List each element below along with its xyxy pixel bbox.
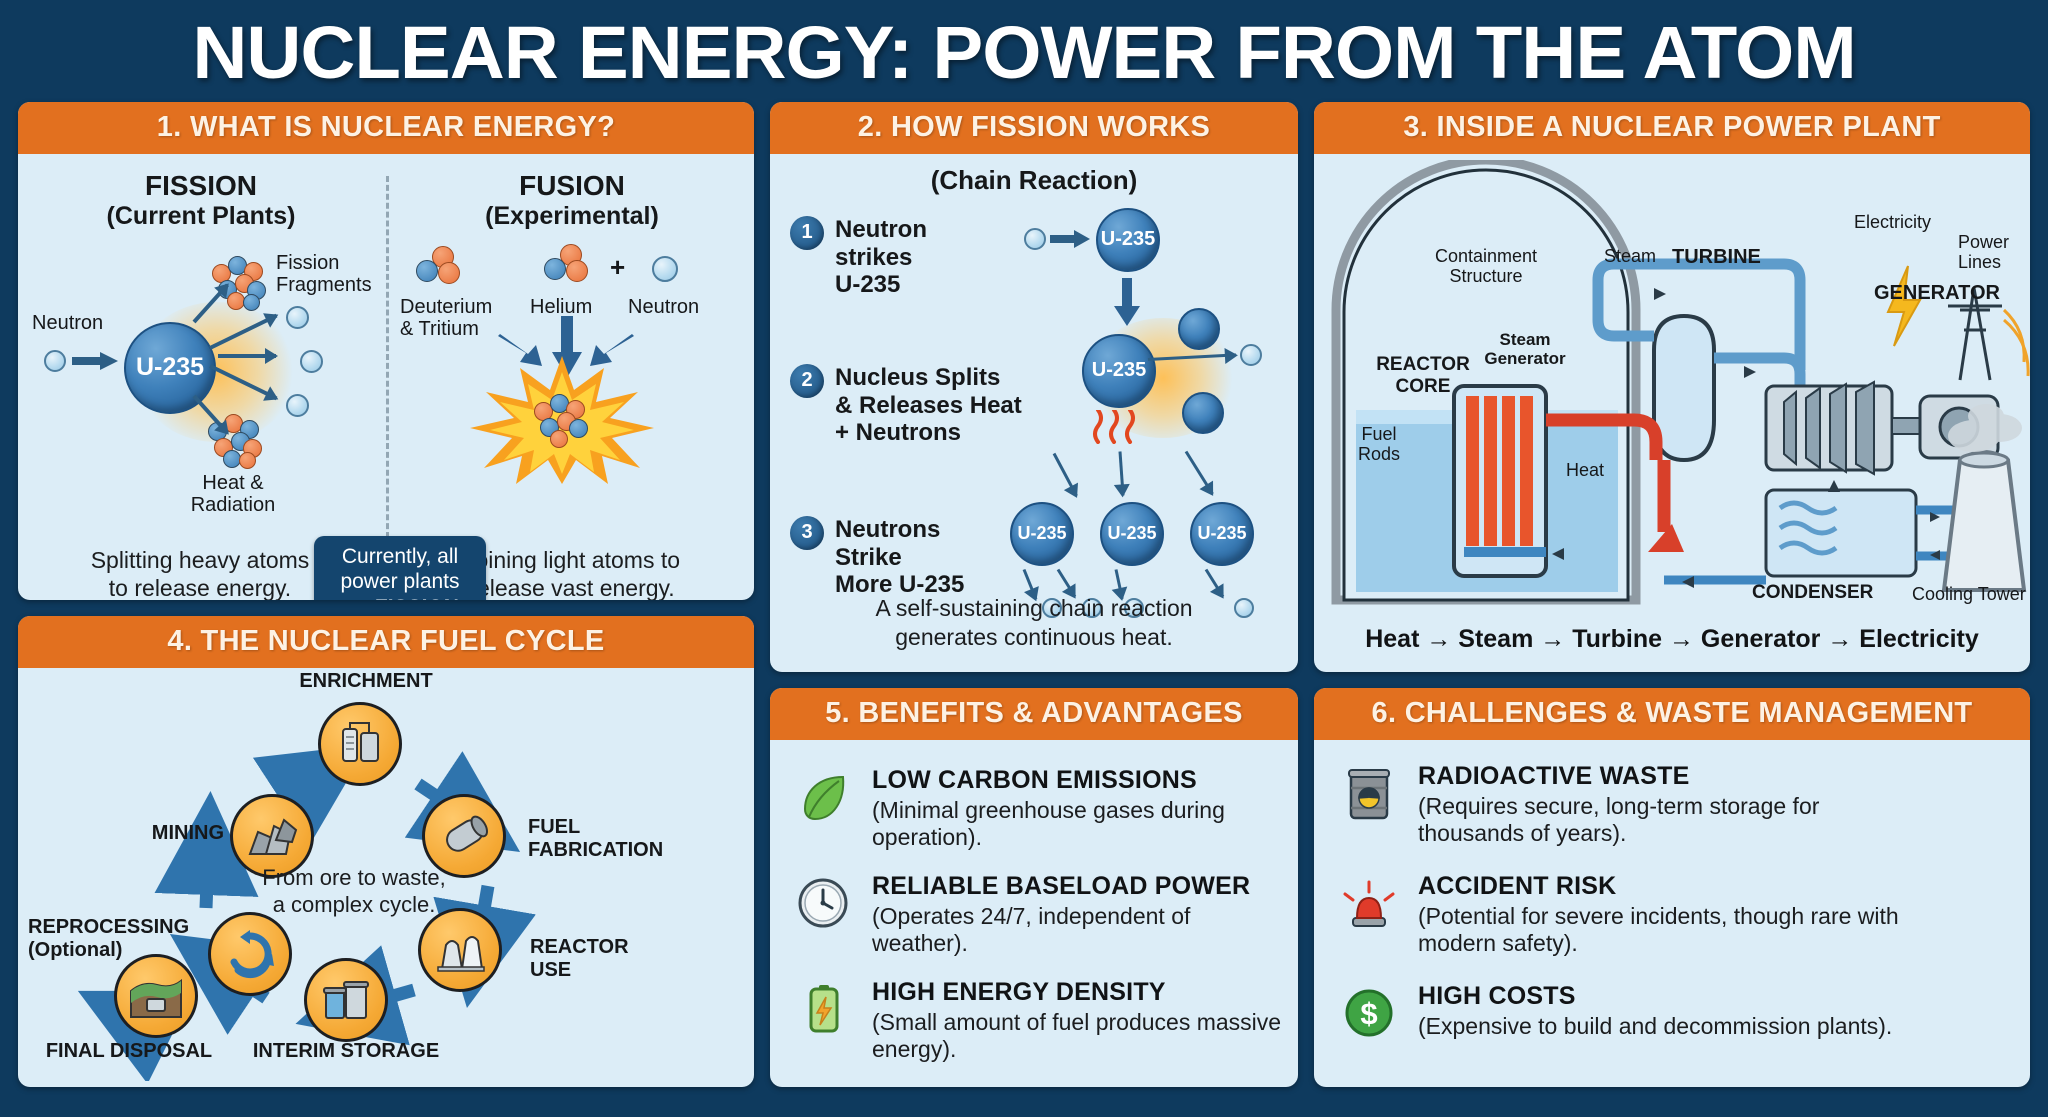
- chain-down-arrow-1: [1114, 278, 1140, 326]
- panel3-header: 3. INSIDE A NUCLEAR POWER PLANT: [1314, 102, 2030, 154]
- fission-title: FISSION: [18, 170, 384, 202]
- stage-label-fuel-fabrication: FUEL FABRICATION: [528, 816, 678, 862]
- cooling-tower-label: Cooling Tower: [1912, 584, 2026, 605]
- chain-u235-row-1: U-235: [1010, 502, 1074, 566]
- step-3-text: Neutrons Strike More U-235: [835, 516, 964, 599]
- challenge-item-2: ACCIDENT RISK (Potential for severe inci…: [1338, 872, 2010, 958]
- chain-tail-arrow-2: [1057, 568, 1077, 597]
- chain-reaction-subtitle: (Chain Reaction): [770, 166, 1298, 196]
- chain-arrow-a: [1053, 452, 1078, 496]
- callout-fission: FISSION: [375, 596, 459, 600]
- callout-use: use: [335, 596, 375, 600]
- power-plant-diagram: Containment Structure REACTOR CORE Fuel …: [1314, 154, 2030, 666]
- recycle-icon: [208, 912, 292, 996]
- released-neutron-large-2: [1182, 392, 1224, 434]
- panel1-divider: [386, 176, 389, 538]
- helium-icon: [542, 244, 598, 294]
- benefit-item-3: HIGH ENERGY DENSITY (Small amount of fue…: [792, 978, 1282, 1064]
- benefit-2-title: RELIABLE BASELOAD POWER: [872, 872, 1282, 901]
- turbine-label: TURBINE: [1672, 246, 1761, 269]
- chain-u235-top: U-235: [1096, 208, 1160, 272]
- panel-grid: 1. WHAT IS NUCLEAR ENERGY? FISSION (Curr…: [18, 102, 2030, 1087]
- stage-label-mining: MINING: [114, 822, 224, 845]
- fusion-title: FUSION: [392, 170, 752, 202]
- emitted-neutron-2: [300, 350, 323, 373]
- panel-inside-power-plant: 3. INSIDE A NUCLEAR POWER PLANT: [1314, 102, 2030, 672]
- fission-callout-badge: Currently, all power plants use FISSION.: [314, 536, 486, 600]
- fusion-subtitle: (Experimental): [392, 202, 752, 231]
- svg-text:$: $: [1360, 996, 1377, 1031]
- deuterium-tritium-icon: [414, 246, 470, 296]
- challenge-3-desc: (Expensive to build and decommission pla…: [1418, 1013, 1892, 1041]
- chain-u235-row-2: U-235: [1100, 502, 1164, 566]
- benefit-3-title: HIGH ENERGY DENSITY: [872, 978, 1282, 1007]
- neutron-arrow-icon: [72, 352, 118, 370]
- u235-nucleus: U-235: [124, 322, 216, 414]
- step-1-text: Neutron strikes U-235: [835, 216, 927, 299]
- leaf-icon: [792, 766, 854, 828]
- fusion-diagram: Deuterium & Tritium + Helium Neutron: [400, 244, 752, 484]
- clock-icon: [792, 872, 854, 934]
- fission-step-3: 3 Neutrons Strike More U-235: [790, 516, 1010, 599]
- chain-tail-arrow-4: [1205, 568, 1225, 597]
- step-3-number: 3: [790, 516, 824, 550]
- released-neutron-large-1: [1178, 308, 1220, 350]
- chain-arrow-b: [1119, 451, 1125, 495]
- step-1-number: 1: [790, 216, 824, 250]
- chain-incoming-neutron: [1024, 228, 1046, 250]
- centrifuge-icon: [318, 702, 402, 786]
- benefit-1-desc: (Minimal greenhouse gases during operati…: [872, 797, 1282, 852]
- challenge-1-title: RADIOACTIVE WASTE: [1418, 762, 1819, 791]
- stage-label-reactor-use: REACTOR USE: [530, 936, 670, 982]
- callout-line-1: Currently, all: [326, 544, 474, 570]
- challenge-item-3: $ HIGH COSTS (Expensive to build and dec…: [1338, 982, 2010, 1044]
- callout-line-2: power plants: [326, 569, 474, 595]
- panel-what-is-nuclear-energy: 1. WHAT IS NUCLEAR ENERGY? FISSION (Curr…: [18, 102, 754, 600]
- fusion-neutron-icon: [652, 256, 678, 282]
- chain-reaction-caption: A self-sustaining chain reaction generat…: [784, 594, 1284, 652]
- steam-label: Steam: [1604, 246, 1656, 267]
- fission-diagram: Neutron U-235: [28, 254, 384, 474]
- benefit-item-2: RELIABLE BASELOAD POWER (Operates 24/7, …: [792, 872, 1282, 958]
- heat-radiation-label: Heat & Radiation: [168, 472, 298, 517]
- chain-arrow-c: [1185, 450, 1214, 494]
- step-2-text: Nucleus Splits & Releases Heat + Neutron…: [835, 364, 1022, 447]
- deuterium-tritium-label: Deuterium & Tritium: [400, 296, 512, 341]
- emit-arrow-mid: [218, 354, 276, 358]
- fusion-neutron-label: Neutron: [628, 296, 699, 319]
- radioactive-barrel-icon: [1338, 762, 1400, 824]
- callout-line-3: use FISSION.: [326, 595, 474, 600]
- power-lines-label: Power Lines: [1958, 232, 2026, 273]
- incoming-neutron-icon: [44, 350, 66, 372]
- panel-fuel-cycle: 4. THE NUCLEAR FUEL CYCLE: [18, 616, 754, 1087]
- stage-label-enrichment: ENRICHMENT: [266, 670, 466, 693]
- benefit-item-1: LOW CARBON EMISSIONS (Minimal greenhouse…: [792, 766, 1282, 852]
- released-neutron-small: [1240, 344, 1262, 366]
- panel-benefits: 5. BENEFITS & ADVANTAGES LOW CARBON EMIS…: [770, 688, 1298, 1087]
- containment-structure-label: Containment Structure: [1426, 246, 1546, 287]
- generator-label: GENERATOR: [1874, 282, 2000, 305]
- challenge-2-title: ACCIDENT RISK: [1418, 872, 1899, 901]
- benefit-2-desc: (Operates 24/7, independent of weather).: [872, 903, 1282, 958]
- emitted-neutron-1: [286, 306, 309, 329]
- panel6-header: 6. CHALLENGES & WASTE MANAGEMENT: [1314, 688, 2030, 740]
- fusion-product-nucleus: [532, 392, 592, 450]
- heat-label: Heat: [1566, 460, 1604, 481]
- panel-how-fission-works: 2. HOW FISSION WORKS (Chain Reaction) 1 …: [770, 102, 1298, 672]
- condenser-label: CONDENSER: [1752, 582, 1873, 604]
- stage-label-reprocessing: REPROCESSING (Optional): [28, 916, 200, 962]
- panel-challenges: 6. CHALLENGES & WASTE MANAGEMENT: [1314, 688, 2030, 1087]
- panel1-header: 1. WHAT IS NUCLEAR ENERGY?: [18, 102, 754, 154]
- panel4-header: 4. THE NUCLEAR FUEL CYCLE: [18, 616, 754, 668]
- reactor-core-label: REACTOR CORE: [1376, 354, 1470, 398]
- burial-icon: [114, 954, 198, 1038]
- callout-period: .: [459, 596, 465, 600]
- stage-label-interim-storage: INTERIM STORAGE: [236, 1040, 456, 1063]
- alarm-light-icon: [1338, 872, 1400, 934]
- energy-flow-statement: Heat → Steam → Turbine → Generator → Ele…: [1314, 625, 2030, 654]
- challenge-2-desc: (Potential for severe incidents, though …: [1418, 903, 1899, 958]
- challenge-1-desc: (Requires secure, long-term storage for …: [1418, 793, 1819, 848]
- fuel-cycle-center-text: From ore to waste, a complex cycle.: [234, 864, 474, 919]
- chain-neutron-arrow: [1050, 230, 1090, 248]
- chain-u235-row-3: U-235: [1190, 502, 1254, 566]
- fission-neutron-label: Neutron: [32, 312, 103, 335]
- chain-reaction-diagram: U-235 U-235: [996, 206, 1292, 626]
- panel5-header: 5. BENEFITS & ADVANTAGES: [770, 688, 1298, 740]
- challenge-3-title: HIGH COSTS: [1418, 982, 1892, 1011]
- heat-waves-icon: [1092, 410, 1148, 444]
- plus-sign: +: [610, 252, 625, 283]
- stage-label-final-disposal: FINAL DISPOSAL: [34, 1040, 224, 1063]
- challenge-item-1: RADIOACTIVE WASTE (Requires secure, long…: [1338, 762, 2010, 848]
- fission-fragments-label: Fission Fragments: [276, 252, 386, 297]
- fission-step-1: 1 Neutron strikes U-235: [790, 216, 1000, 299]
- steam-generator-label: Steam Generator: [1482, 330, 1568, 369]
- storage-cask-icon: [304, 958, 388, 1042]
- chain-u235-mid: U-235: [1082, 334, 1156, 408]
- infographic-poster: NUCLEAR ENERGY: POWER FROM THE ATOM 1. W…: [0, 0, 2048, 1117]
- fuel-cycle-diagram: ENRICHMENT MINING: [18, 668, 754, 1081]
- page-title: NUCLEAR ENERGY: POWER FROM THE ATOM: [0, 10, 2048, 102]
- emitted-neutron-3: [286, 394, 309, 417]
- benefit-3-desc: (Small amount of fuel produces massive e…: [872, 1009, 1282, 1064]
- fission-subtitle: (Current Plants): [18, 202, 384, 231]
- step-2-number: 2: [790, 364, 824, 398]
- benefit-1-title: LOW CARBON EMISSIONS: [872, 766, 1282, 795]
- fuel-rods-label: Fuel Rods: [1344, 424, 1414, 465]
- dollar-icon: $: [1338, 982, 1400, 1044]
- electricity-label: Electricity: [1854, 212, 1931, 233]
- panel2-header: 2. HOW FISSION WORKS: [770, 102, 1298, 154]
- reactor-icon: [418, 908, 502, 992]
- battery-icon: [792, 978, 854, 1040]
